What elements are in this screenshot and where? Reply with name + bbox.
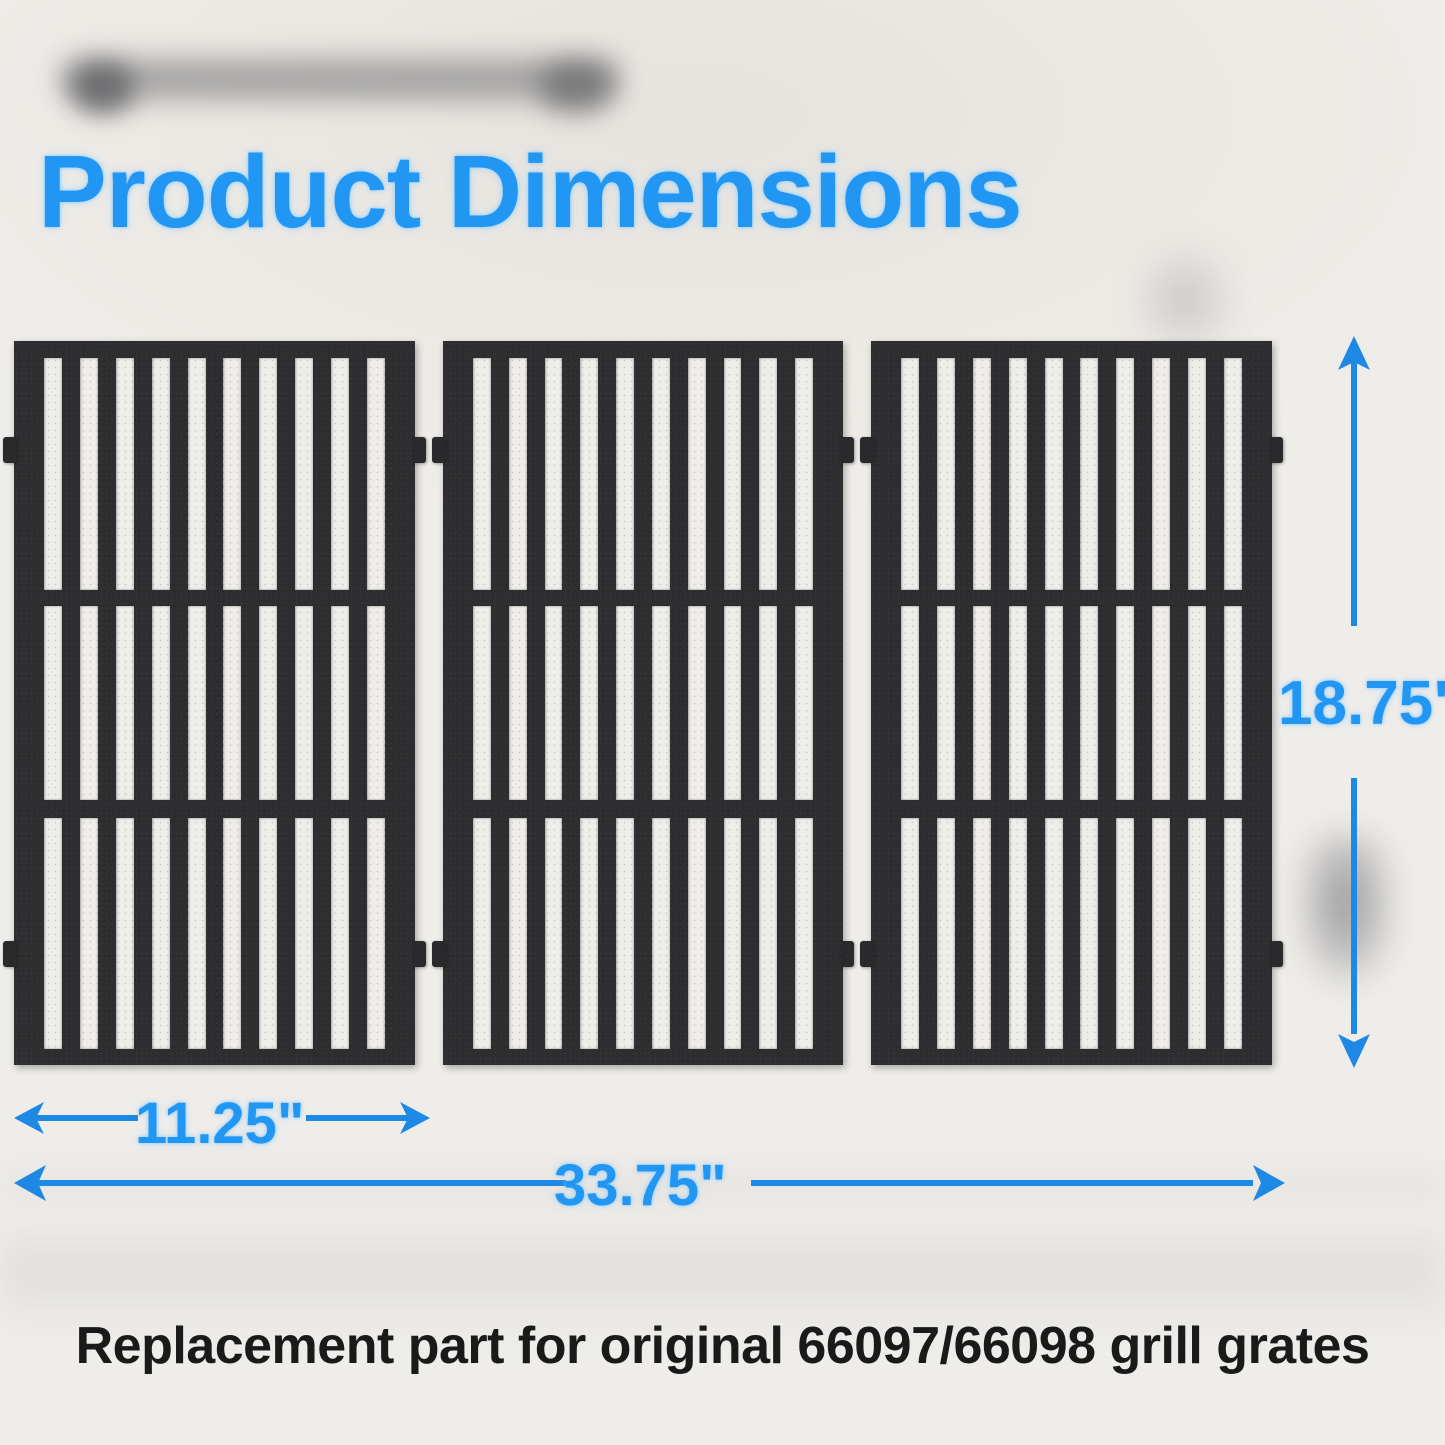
grate-slot [580,818,598,1049]
grate-slot [116,606,134,800]
grate-slot [188,818,206,1049]
grate-slot [1009,818,1027,1049]
grate-slot [1152,358,1170,590]
grate-slot [545,606,563,800]
grate-panel [14,341,415,1065]
grate-slot [759,606,777,800]
grate-slot [616,358,634,590]
grate-slot [901,606,919,800]
grill-handle-blur [60,48,620,110]
total-width-arrow-left-icon [14,1157,574,1209]
grate-slot [937,606,955,800]
grate-slot [473,358,491,590]
grate-slot [795,818,813,1049]
grate-slot [580,606,598,800]
grate-slot [509,606,527,800]
grate-locating-tab [1270,941,1283,967]
grate-locating-tab [841,437,854,463]
grate-slot [580,358,598,590]
height-arrow-down-icon [1334,772,1374,1072]
grate-slot [1009,606,1027,800]
grate-slot [688,358,706,590]
grate-slot [1080,606,1098,800]
page-title: Product Dimensions [38,140,1022,243]
grate-slot [795,358,813,590]
grate-slot [652,818,670,1049]
grate-slot [116,818,134,1049]
grate-slot [1152,818,1170,1049]
grate-slot [223,358,241,590]
grate-panel [443,341,843,1065]
grate-slot [545,818,563,1049]
grate-slot [188,606,206,800]
grate-slot [44,606,62,800]
grate-slot [152,818,170,1049]
grate-slot [1045,358,1063,590]
grate-slot [331,358,349,590]
grill-handle-left-mount-blur [72,62,134,114]
single-width-dimension-label: 11.25" [135,1090,304,1157]
grate-slot [1152,606,1170,800]
grate-locating-tab [1270,437,1283,463]
grate-locating-tab [3,437,16,463]
grate-slot [152,606,170,800]
grate-locating-tab [860,437,873,463]
grate-slot [116,358,134,590]
grate-slot [1188,606,1206,800]
grate-slot [259,358,277,590]
height-dimension-label: 18.75" [1278,668,1445,739]
grate-locating-tab [841,941,854,967]
grate-slot [473,606,491,800]
grate-slot [44,358,62,590]
grate-slot [1116,818,1134,1049]
grate-locating-tab [432,941,445,967]
grate-locating-tab [413,941,426,967]
grate-slot [759,358,777,590]
total-width-dimension-label: 33.75" [554,1152,727,1219]
grate-locating-tab [432,437,445,463]
grate-slot [937,358,955,590]
grate-slot [1188,818,1206,1049]
grate-slot [1045,818,1063,1049]
total-width-arrow-right-icon [745,1157,1285,1209]
grate-locating-tab [860,941,873,967]
height-arrow-up-icon [1334,336,1374,636]
grate-slot [80,358,98,590]
grate-slot [80,818,98,1049]
grate-slot [937,818,955,1049]
grate-slot [1080,818,1098,1049]
grate-slot [80,606,98,800]
grate-locating-tab [413,437,426,463]
grate-slot [724,818,742,1049]
grate-slot [1224,358,1242,590]
grate-slot [724,606,742,800]
grate-locating-tab [3,941,16,967]
grate-slot [973,606,991,800]
grill-handle-right-mount-blur [540,62,610,112]
single-width-arrow-left-icon [14,1092,144,1144]
grate-slot [652,358,670,590]
grate-slot [616,606,634,800]
grate-slot [331,606,349,800]
grate-slot [1188,358,1206,590]
grate-slot [295,606,313,800]
grate-slot [1045,606,1063,800]
grate-slot [724,358,742,590]
grate-slot [973,358,991,590]
grate-slot [688,606,706,800]
grate-slot [901,818,919,1049]
grate-slot [1009,358,1027,590]
grate-slot [367,818,385,1049]
grate-slot [331,818,349,1049]
grate-slot [295,358,313,590]
grate-slot [44,818,62,1049]
grate-slot [367,606,385,800]
grate-slot [223,606,241,800]
grate-slot [259,606,277,800]
grate-slot [259,818,277,1049]
grate-slot [1224,606,1242,800]
infographic-canvas: Product Dimensions 18.75" 11.25" 33.75" … [0,0,1445,1445]
grate-slot [652,606,670,800]
caption-text: Replacement part for original 66097/6609… [0,1316,1445,1376]
grate-slot [1116,358,1134,590]
grate-slot [152,358,170,590]
grate-slot [367,358,385,590]
grate-slot [1224,818,1242,1049]
grate-slot [545,358,563,590]
grate-slot [509,818,527,1049]
single-width-arrow-right-icon [300,1092,430,1144]
grate-slot [616,818,634,1049]
grate-slot [188,358,206,590]
grate-slot [795,606,813,800]
grate-slot [973,818,991,1049]
grate-slot [1116,606,1134,800]
grate-panel [871,341,1272,1065]
grate-slot [473,818,491,1049]
grate-slot [295,818,313,1049]
grate-slot [901,358,919,590]
grate-slot [509,358,527,590]
grate-slot [1080,358,1098,590]
grate-slot [688,818,706,1049]
grate-slot [759,818,777,1049]
grate-slot [223,818,241,1049]
